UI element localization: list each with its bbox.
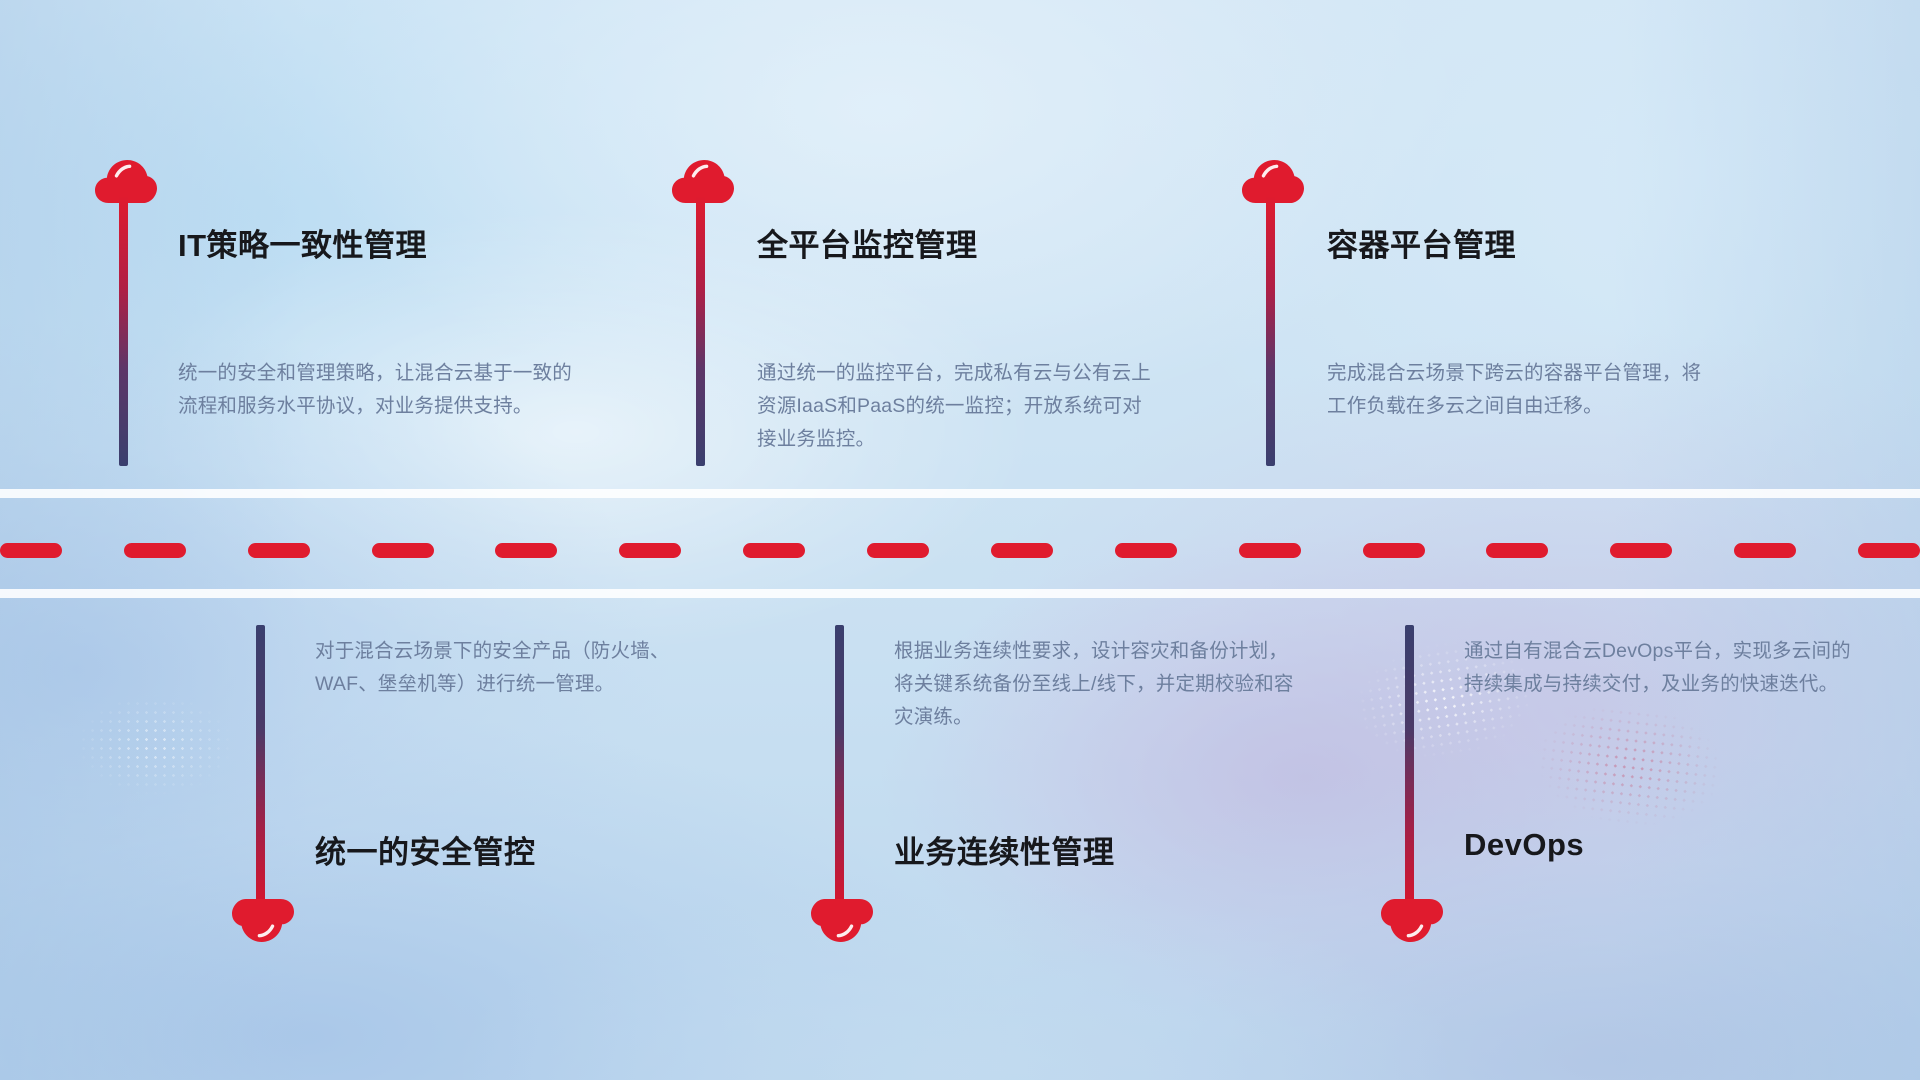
top-heading-1: IT策略一致性管理 (178, 220, 427, 265)
top-body-3: 完成混合云场景下跨云的容器平台管理，将工作负载在多云之间自由迁移。 (1327, 357, 1719, 423)
cloud-icon (1381, 898, 1443, 942)
road-dash (991, 543, 1053, 558)
road-dash (1610, 543, 1672, 558)
road-dash (248, 543, 310, 558)
pin-stem (256, 625, 265, 910)
top-heading-3: 容器平台管理 (1327, 220, 1516, 265)
road-dash (0, 543, 62, 558)
top-heading-2: 全平台监控管理 (757, 220, 978, 265)
road-divider (0, 543, 1920, 558)
pin-stem (696, 196, 705, 466)
bottom-heading-1: 统一的安全管控 (315, 827, 536, 872)
road-dash (619, 543, 681, 558)
bottom-body-2: 根据业务连续性要求，设计容灾和备份计划，将关键系统备份至线上/线下，并定期校验和… (894, 635, 1294, 734)
road-dash (1734, 543, 1796, 558)
top-body-1: 统一的安全和管理策略，让混合云基于一致的流程和服务水平协议，对业务提供支持。 (178, 357, 578, 423)
bottom-body-1: 对于混合云场景下的安全产品（防火墙、WAF、堡垒机等）进行统一管理。 (315, 635, 715, 701)
pin-stem (1405, 625, 1414, 910)
road-dash (124, 543, 186, 558)
road-dash (1239, 543, 1301, 558)
road-dash (372, 543, 434, 558)
road-dash (1858, 543, 1920, 558)
infographic-canvas: IT策略一致性管理 统一的安全和管理策略，让混合云基于一致的流程和服务水平协议，… (0, 0, 1920, 1080)
bottom-heading-3: DevOps (1464, 827, 1584, 863)
pin-stem (1266, 196, 1275, 466)
road-dash (867, 543, 929, 558)
road-dash (1115, 543, 1177, 558)
top-body-2: 通过统一的监控平台，完成私有云与公有云上资源IaaS和PaaS的统一监控；开放系… (757, 357, 1157, 456)
divider-line-bottom (0, 589, 1920, 598)
pin-stem (835, 625, 844, 910)
road-dash (1363, 543, 1425, 558)
decorative-dots-right-red (1524, 690, 1736, 840)
decorative-dots-left-white (70, 690, 240, 800)
road-dash (495, 543, 557, 558)
road-dash (1486, 543, 1548, 558)
road-dash (743, 543, 805, 558)
cloud-icon (232, 898, 294, 942)
pin-stem (119, 196, 128, 466)
bottom-body-3: 通过自有混合云DevOps平台，实现多云间的持续集成与持续交付，及业务的快速迭代… (1464, 635, 1856, 701)
bottom-heading-2: 业务连续性管理 (894, 827, 1115, 872)
divider-line-top (0, 489, 1920, 498)
cloud-icon (811, 898, 873, 942)
